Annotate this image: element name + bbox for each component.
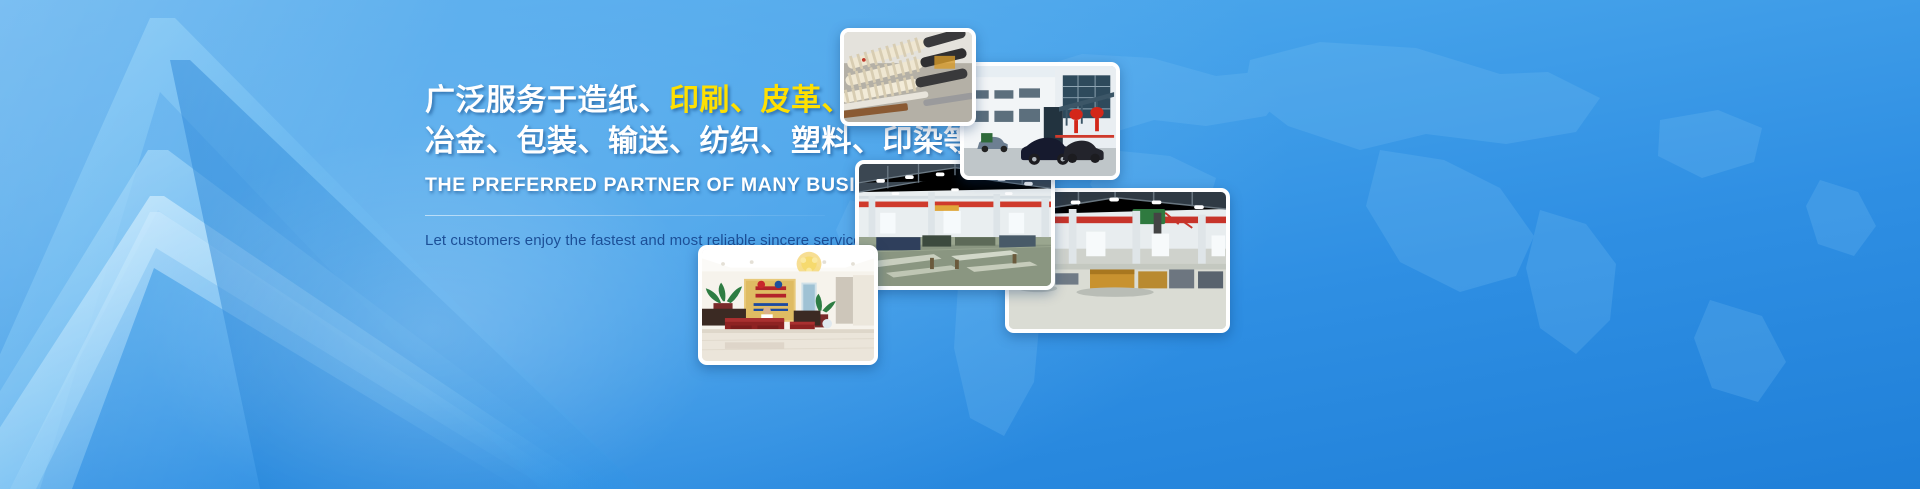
- copy-divider: [425, 215, 825, 216]
- photo-factory-building[interactable]: [960, 62, 1120, 180]
- hero-banner: 广泛服务于造纸、印刷、皮革、压延、 冶金、包装、输送、纺织、塑料、印染等行业 T…: [0, 0, 1920, 489]
- photo-collage: [0, 0, 1920, 489]
- photo-office-lobby[interactable]: [698, 245, 878, 365]
- headline-white-part: 广泛服务于造纸、: [425, 83, 669, 118]
- headline-line-2: 冶金、包装、输送、纺织、塑料、印染等行业: [425, 123, 945, 161]
- photo-rollers-stack[interactable]: [840, 28, 976, 126]
